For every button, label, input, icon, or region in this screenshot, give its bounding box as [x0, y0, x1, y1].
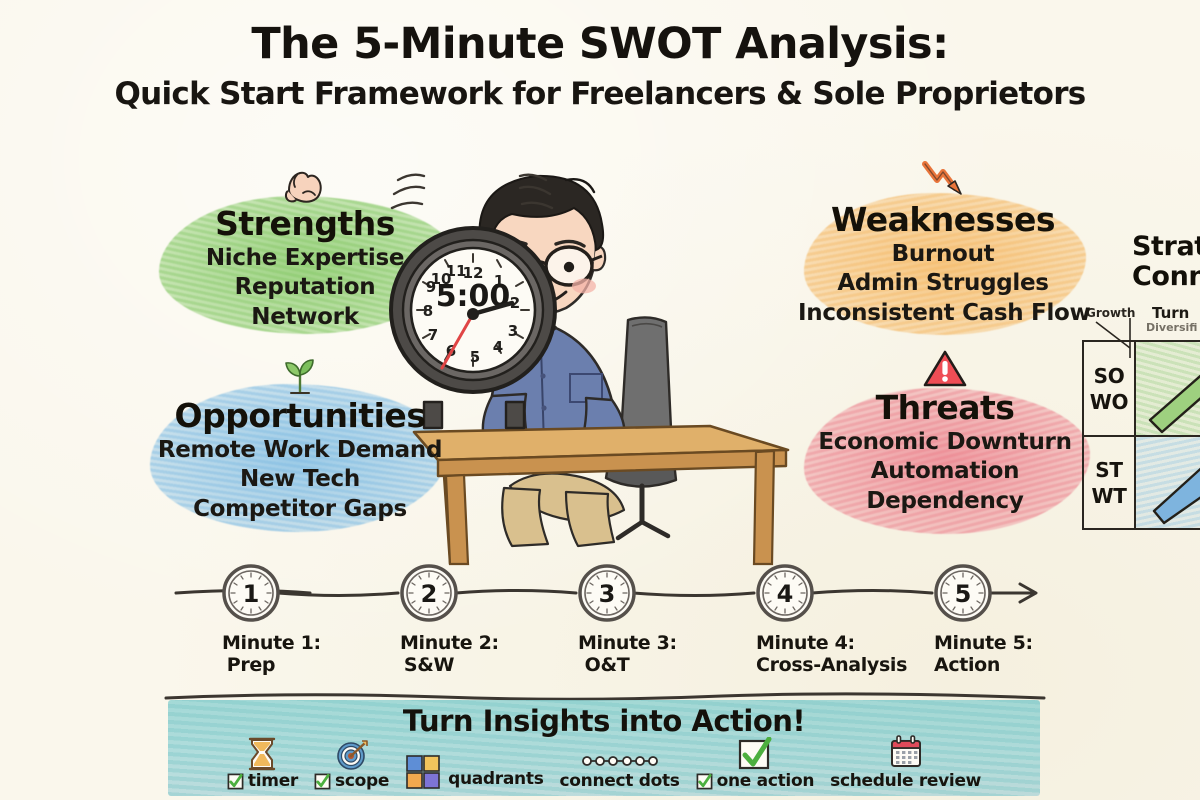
timeline-caption-line1: Minute 2:	[400, 632, 458, 654]
page-title: The 5-Minute SWOT Analysis:	[0, 22, 1200, 67]
banner-item-label: schedule review	[830, 773, 981, 790]
timeline-caption: Minute 2: S&W	[400, 632, 458, 676]
hourglass-icon	[247, 737, 277, 771]
svg-text:4: 4	[493, 338, 503, 356]
up-right-arrow-icon	[1136, 342, 1200, 434]
matrix-label-st: ST	[1095, 458, 1122, 482]
quadrant-item: Remote Work Demand	[150, 436, 450, 465]
quadrant-items: Economic Downturn Automation Dependency	[800, 428, 1090, 516]
banner-item-connect-dots[interactable]: connect dots	[560, 753, 680, 790]
quadrant-item: New Tech	[150, 465, 450, 494]
banner-checklist: timer	[168, 740, 1040, 796]
quadrant-threats: Threats Economic Downturn Automation Dep…	[800, 348, 1090, 516]
matrix-axis-labels: Growth Turn Diversifi	[1128, 304, 1200, 344]
matrix-title-line1: Strat	[1132, 232, 1200, 262]
quadrant-item: Dependency	[800, 487, 1090, 516]
check-mark-icon	[738, 737, 772, 771]
matrix-label-wo: WO	[1090, 390, 1128, 414]
matrix-cell-defend	[1136, 435, 1200, 528]
timeline-caption-line2: S&W	[400, 654, 458, 676]
timeline-caption: Minute 4: Cross-Analysis	[756, 632, 814, 676]
warning-triangle-icon	[800, 348, 1090, 390]
clock-face-icon: 2	[400, 564, 458, 622]
timeline-step-4[interactable]: 4 Minute 4: Cross-Analysis	[756, 564, 814, 676]
timeline-caption: Minute 3: O&T	[578, 632, 636, 676]
quadrant-item: Reputation	[155, 273, 455, 302]
four-quadrants-icon	[405, 754, 441, 790]
quadrant-strengths: Strengths Niche Expertise Reputation Net…	[155, 166, 455, 332]
matrix-panel-title: Strat Connec	[1132, 232, 1200, 292]
svg-text:3: 3	[508, 322, 518, 340]
banner-item-label: connect dots	[560, 773, 680, 790]
banner-item-one-action[interactable]: one action	[696, 737, 815, 790]
banner-item-quadrants[interactable]: quadrants	[405, 754, 543, 790]
step-number: 1	[243, 580, 260, 608]
quadrant-item: Economic Downturn	[800, 428, 1090, 457]
timeline-step-1[interactable]: 1 Minute 1: Prep	[222, 564, 280, 676]
banner-item-label: one action	[717, 773, 815, 790]
step-number: 3	[599, 580, 616, 608]
timeline-step-5[interactable]: 5 Minute 5: Action	[934, 564, 992, 676]
flexed-biceps-icon	[155, 166, 455, 206]
checkbox-checked-icon[interactable]	[314, 773, 331, 790]
clock-face-icon: 1	[222, 564, 280, 622]
timeline-5-minutes: 1 Minute 1: Prep 2 Minute 2: S&W	[170, 560, 1040, 685]
downward-trend-arrow-icon	[798, 158, 1088, 202]
banner-item-scope[interactable]: scope	[314, 739, 389, 790]
quadrant-heading: Weaknesses	[798, 203, 1088, 238]
quadrant-item: Inconsistent Cash Flow	[798, 299, 1088, 328]
banner-item-schedule-review[interactable]: schedule review	[830, 735, 981, 790]
matrix-label-so: SO	[1094, 364, 1125, 388]
quadrant-heading: Opportunities	[150, 399, 450, 434]
checkbox-checked-icon[interactable]	[227, 773, 244, 790]
quadrant-item: Network	[155, 303, 455, 332]
step-number: 5	[955, 580, 972, 608]
strategic-connections-panel: Strat Connec Growth Turn Diversifi SO WO	[1128, 232, 1200, 344]
banner-item-label: timer	[248, 773, 298, 790]
calendar-icon	[889, 735, 923, 769]
timeline-step-2[interactable]: 2 Minute 2: S&W	[400, 564, 458, 676]
down-left-arrow-icon	[1136, 437, 1200, 528]
timeline-caption: Minute 5: Action	[934, 632, 992, 676]
quadrant-item: Admin Struggles	[798, 269, 1088, 298]
clock-face-icon: 3	[578, 564, 636, 622]
clock-face-icon: 5	[934, 564, 992, 622]
swot-infographic-poster: The 5-Minute SWOT Analysis: Quick Start …	[0, 0, 1200, 800]
call-to-action-banner: Turn Insights into Action!	[168, 700, 1040, 796]
quadrant-items: Remote Work Demand New Tech Competitor G…	[150, 436, 450, 524]
quadrant-opportunities: Opportunities Remote Work Demand New Tec…	[150, 356, 450, 524]
page-subtitle: Quick Start Framework for Freelancers & …	[0, 76, 1200, 112]
matrix-row-labels-bottom: ST WT	[1084, 435, 1136, 528]
banner-item-timer[interactable]: timer	[227, 737, 298, 790]
step-number: 4	[777, 580, 794, 608]
timeline-caption-line2: Cross-Analysis	[756, 654, 814, 676]
seedling-icon	[150, 356, 450, 398]
matrix-cell-growth	[1136, 342, 1200, 435]
matrix-title-line2: Connec	[1132, 262, 1200, 292]
title-block: The 5-Minute SWOT Analysis: Quick Start …	[0, 22, 1200, 112]
quadrant-heading: Strengths	[155, 207, 455, 242]
timeline-caption-line1: Minute 1:	[222, 632, 280, 654]
banner-item-label: scope	[335, 773, 389, 790]
quadrant-item: Niche Expertise	[155, 244, 455, 273]
timeline-caption-line2: O&T	[578, 654, 636, 676]
svg-text:5: 5	[470, 348, 480, 366]
quadrant-item: Automation	[800, 457, 1090, 486]
banner-headline: Turn Insights into Action!	[168, 704, 1040, 738]
swot-cross-matrix: SO WO ST WT	[1082, 340, 1200, 530]
quadrant-heading: Threats	[800, 391, 1090, 426]
timeline-caption-line1: Minute 4:	[756, 632, 814, 654]
timeline-caption: Minute 1: Prep	[222, 632, 280, 676]
quadrant-weaknesses: Weaknesses Burnout Admin Struggles Incon…	[798, 158, 1088, 328]
timeline-step-3[interactable]: 3 Minute 3: O&T	[578, 564, 636, 676]
timeline-caption-line1: Minute 3:	[578, 632, 636, 654]
checkbox-checked-icon[interactable]	[696, 773, 713, 790]
timeline-caption-line1: Minute 5:	[934, 632, 992, 654]
banner-item-label: quadrants	[448, 771, 543, 788]
matrix-row-labels-top: SO WO	[1084, 342, 1136, 435]
connected-dots-icon	[581, 753, 659, 769]
target-icon	[336, 739, 368, 771]
timeline-caption-line2: Action	[934, 654, 992, 676]
timeline-caption-line2: Prep	[222, 654, 280, 676]
step-number: 2	[421, 580, 438, 608]
quadrant-items: Burnout Admin Struggles Inconsistent Cas…	[798, 240, 1088, 328]
matrix-label-wt: WT	[1091, 484, 1126, 508]
quadrant-items: Niche Expertise Reputation Network	[155, 244, 455, 332]
clock-face-icon: 4	[756, 564, 814, 622]
quadrant-item: Competitor Gaps	[150, 495, 450, 524]
quadrant-item: Burnout	[798, 240, 1088, 269]
